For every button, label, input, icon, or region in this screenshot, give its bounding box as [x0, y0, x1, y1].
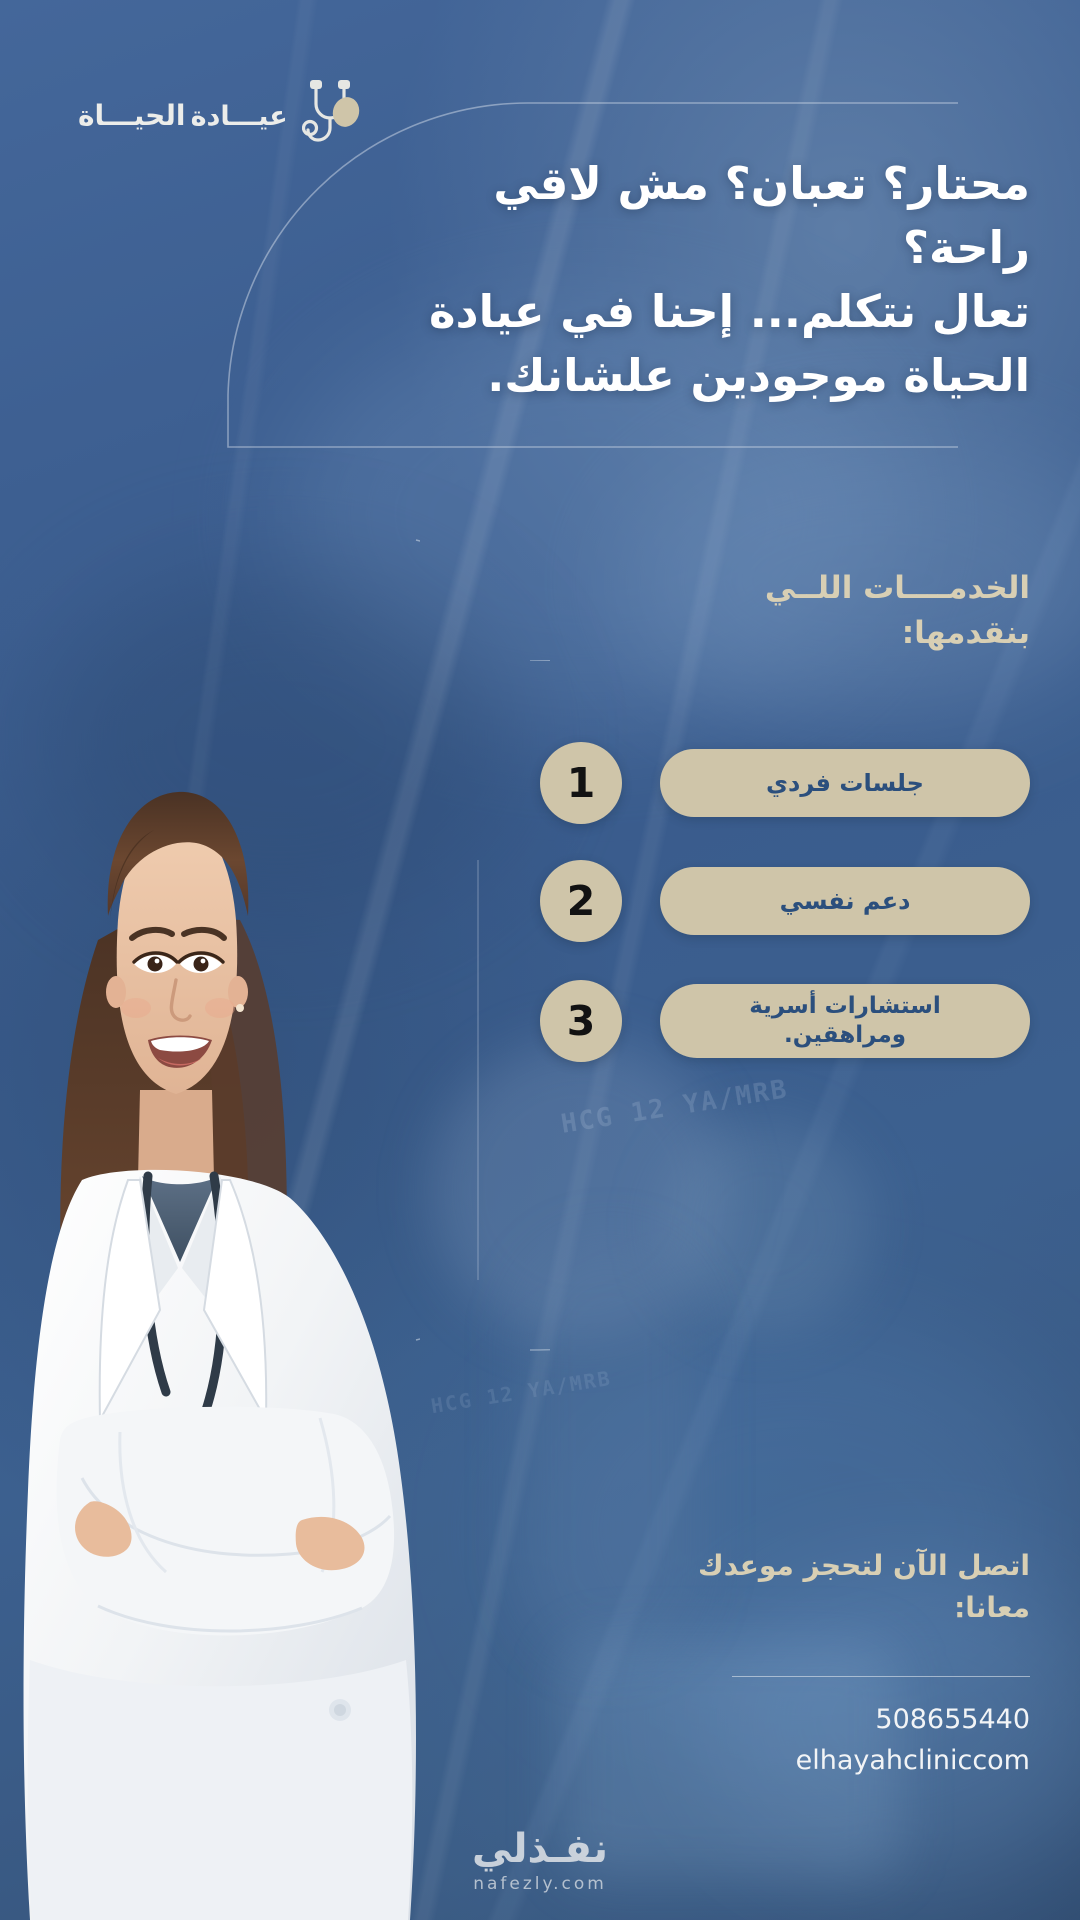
headline-line-2: تعال نتكلم... إحنا في عيادة — [390, 280, 1030, 344]
contact-phone[interactable]: 508655440 — [670, 1700, 1030, 1741]
service-label-3-line-2: ومراهقين. — [784, 1021, 906, 1050]
service-item-2[interactable]: دعم نفسي 2 — [540, 860, 1030, 942]
service-number-3: 3 — [540, 980, 622, 1062]
watermark-arabic: نفـذلي — [472, 1826, 608, 1872]
watermark-latin: nafezly.com — [473, 1874, 607, 1894]
headline-line-3: الحياة موجودين علشانك. — [390, 344, 1030, 408]
headline: محتار؟ تعبان؟ مش لاقي راحة؟ تعال نتكلم..… — [390, 152, 1030, 408]
headline-line-1: محتار؟ تعبان؟ مش لاقي راحة؟ — [390, 152, 1030, 280]
contact-details: 508655440 elhayahcliniccom — [670, 1700, 1030, 1781]
service-number-2: 2 — [540, 860, 622, 942]
service-item-3[interactable]: استشارات أسرية ومراهقين. 3 — [540, 980, 1030, 1062]
doctor-photo — [0, 620, 610, 1920]
contact-website[interactable]: elhayahcliniccom — [670, 1741, 1030, 1782]
watermark: نفـذلي nafezly.com — [0, 1826, 1080, 1894]
services-title: الخدمــــات اللــي بنقدمها: — [700, 566, 1030, 656]
brand-logo[interactable]: عيـــادة الحيـــاة — [78, 78, 364, 154]
logo-line-1: عيـــادة — [191, 101, 288, 132]
service-number-1: 1 — [540, 742, 622, 824]
services-title-line-1: الخدمــــات اللــي — [700, 566, 1030, 611]
cta-line-2: معانا: — [670, 1587, 1030, 1629]
service-label-2: دعم نفسي — [660, 867, 1030, 935]
poster-canvas: HCG 12 YA/MRB ucc HCG 12 YA/MRB عيـــادة… — [0, 0, 1080, 1920]
service-label-3-line-1: استشارات أسرية — [749, 992, 941, 1021]
cta-divider — [732, 1676, 1030, 1677]
stethoscope-icon — [302, 78, 364, 154]
service-item-1[interactable]: جلسات فردي 1 — [540, 742, 1030, 824]
services-title-line-2: بنقدمها: — [700, 611, 1030, 656]
service-label-1: جلسات فردي — [660, 749, 1030, 817]
cta-text: اتصل الآن لتحجز موعدك معانا: — [670, 1545, 1030, 1629]
cta-line-1: اتصل الآن لتحجز موعدك — [670, 1545, 1030, 1587]
logo-line-2: الحيـــاة — [78, 99, 185, 132]
